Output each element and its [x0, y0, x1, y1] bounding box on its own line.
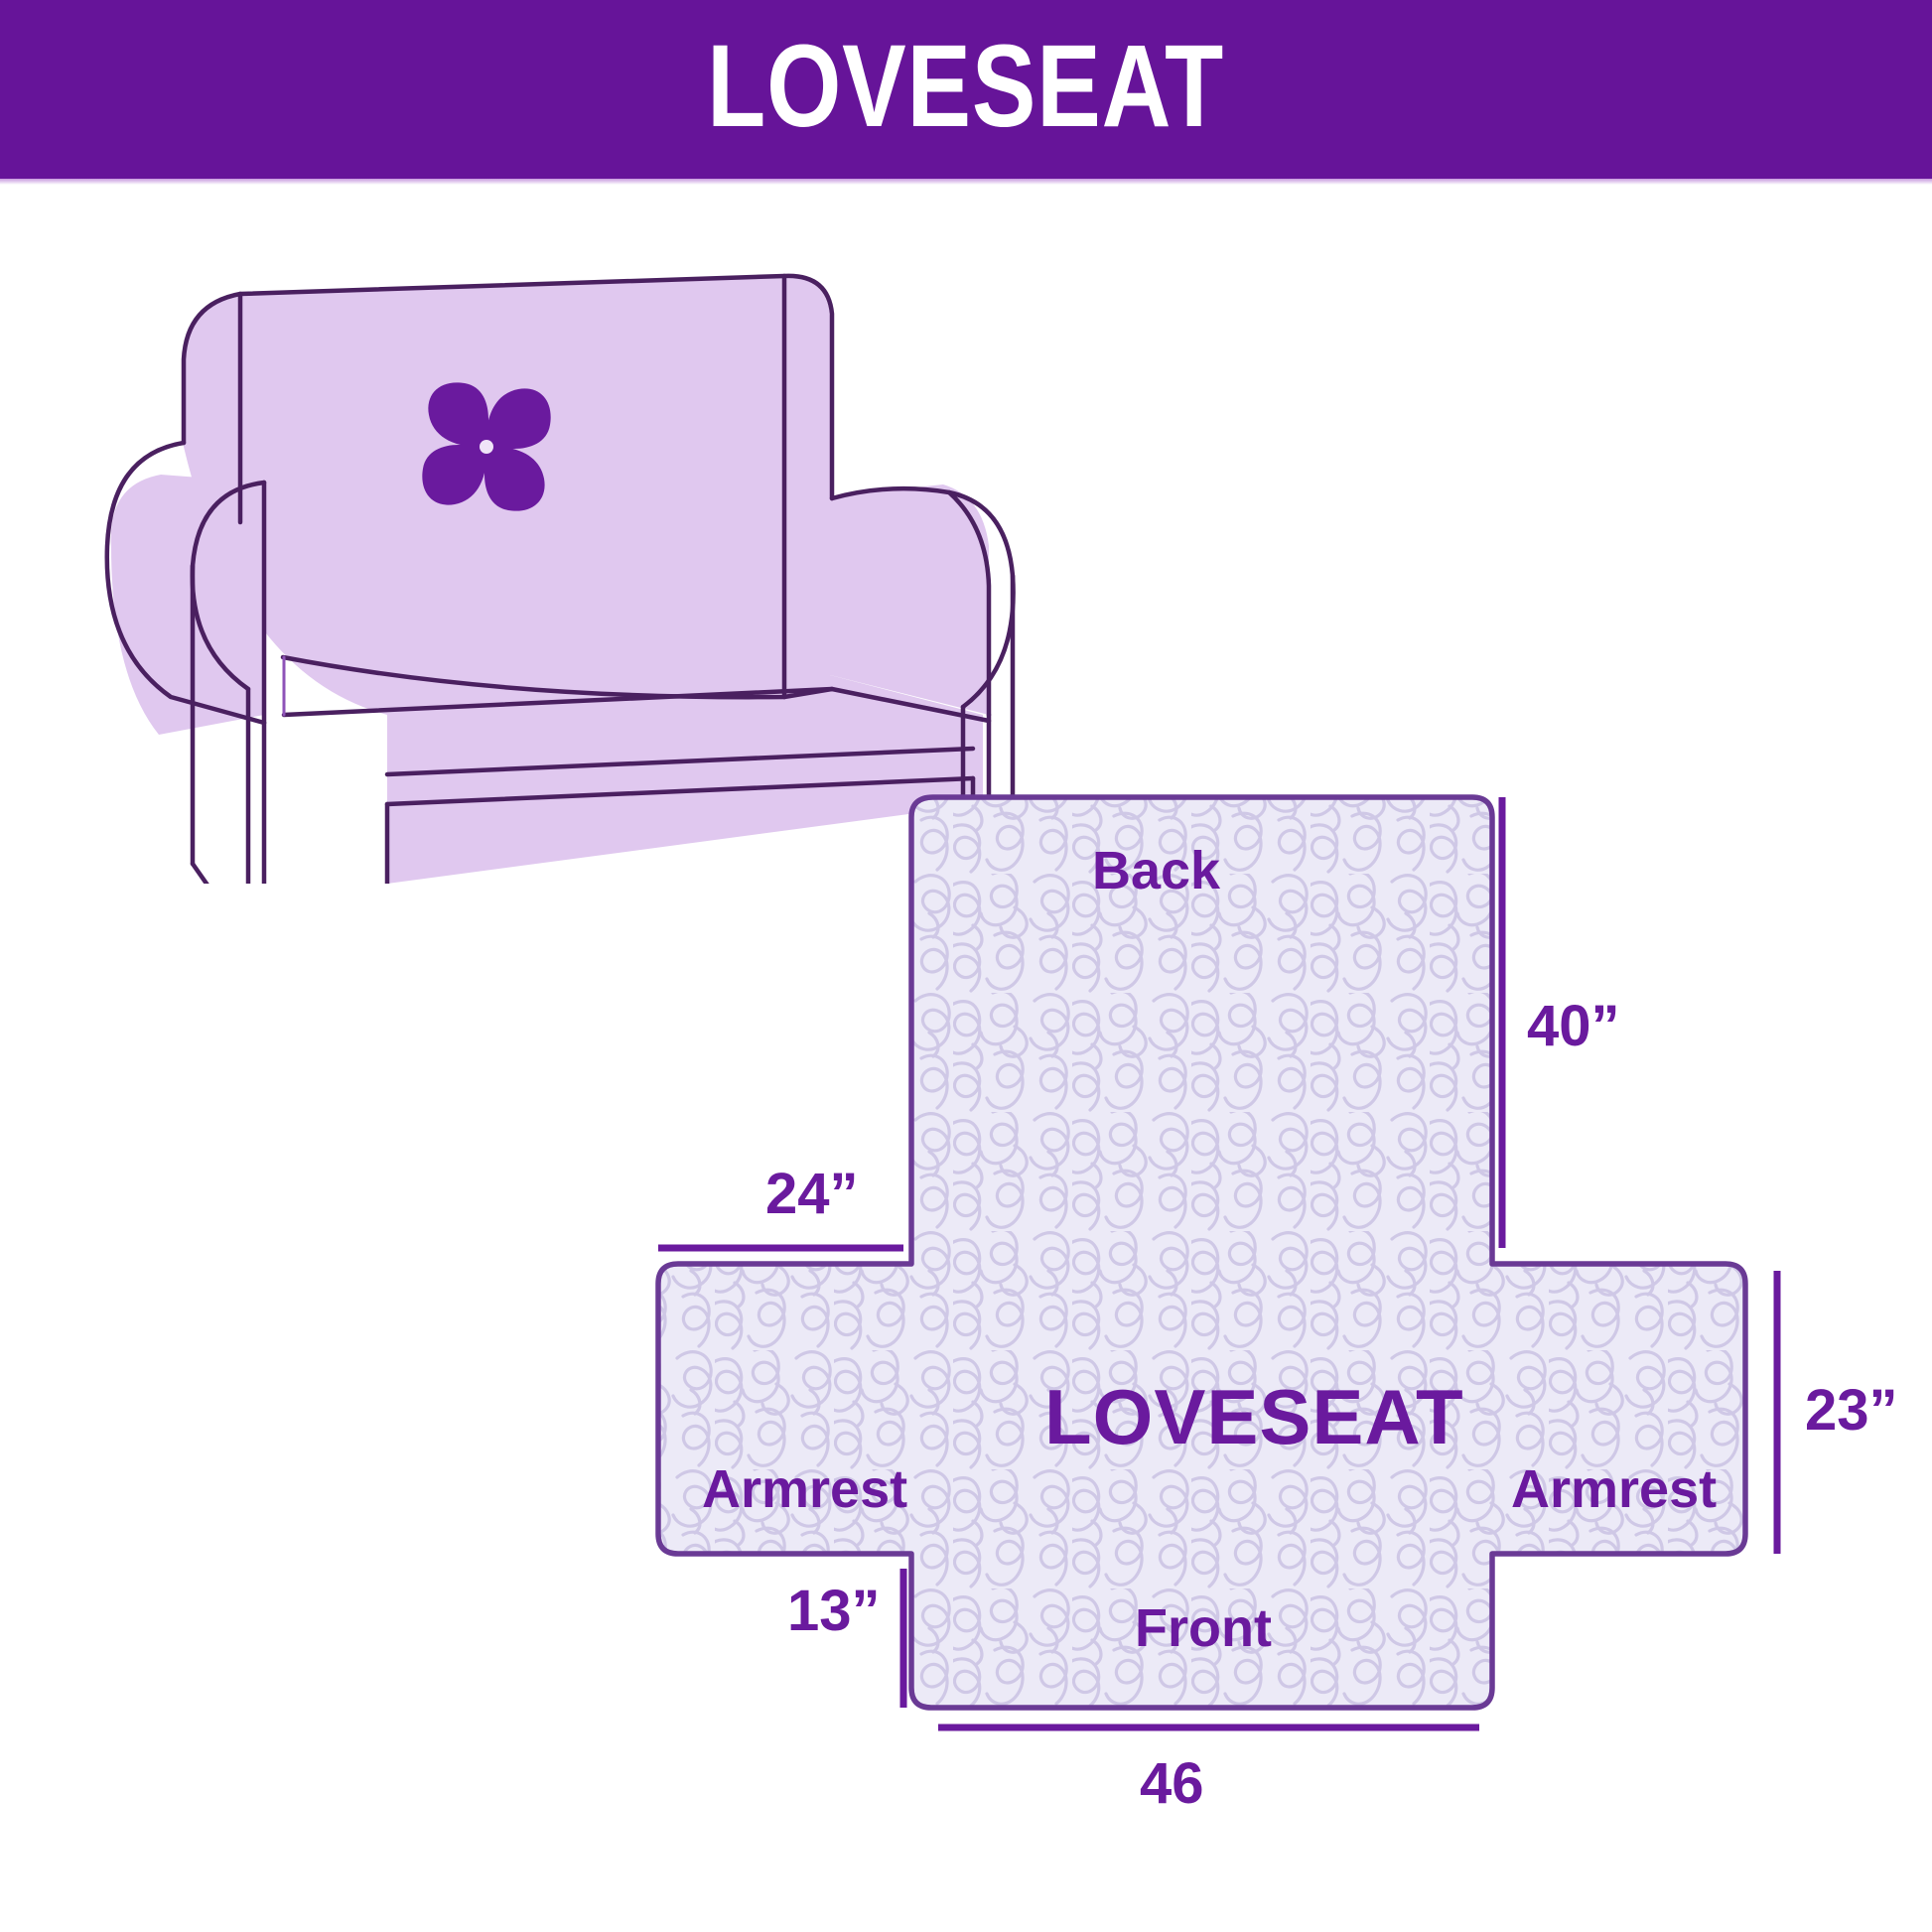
page-title: LOVESEAT [708, 28, 1225, 145]
panel-label-armrest-left: Armrest [702, 1462, 907, 1516]
cover-cross-shape [658, 797, 1745, 1708]
header-underglow [0, 179, 1932, 185]
dimension-label-front-width: 46 [1140, 1755, 1204, 1813]
panel-label-back: Back [1092, 844, 1220, 897]
dimension-label-back-height: 40” [1527, 998, 1620, 1055]
dimension-label-front-height: 13” [787, 1583, 881, 1640]
dimension-label-back-offset: 24” [765, 1166, 859, 1223]
cover-pattern-diagram [596, 755, 1932, 1866]
dimension-label-armrest-height: 23” [1805, 1382, 1898, 1440]
product-dimension-infographic: LOVESEAT [0, 0, 1932, 1932]
header-banner: LOVESEAT [0, 0, 1932, 179]
panel-label-center: LOVESEAT [1044, 1378, 1464, 1455]
panel-label-front: Front [1135, 1601, 1272, 1655]
panel-label-armrest-right: Armrest [1511, 1462, 1717, 1516]
